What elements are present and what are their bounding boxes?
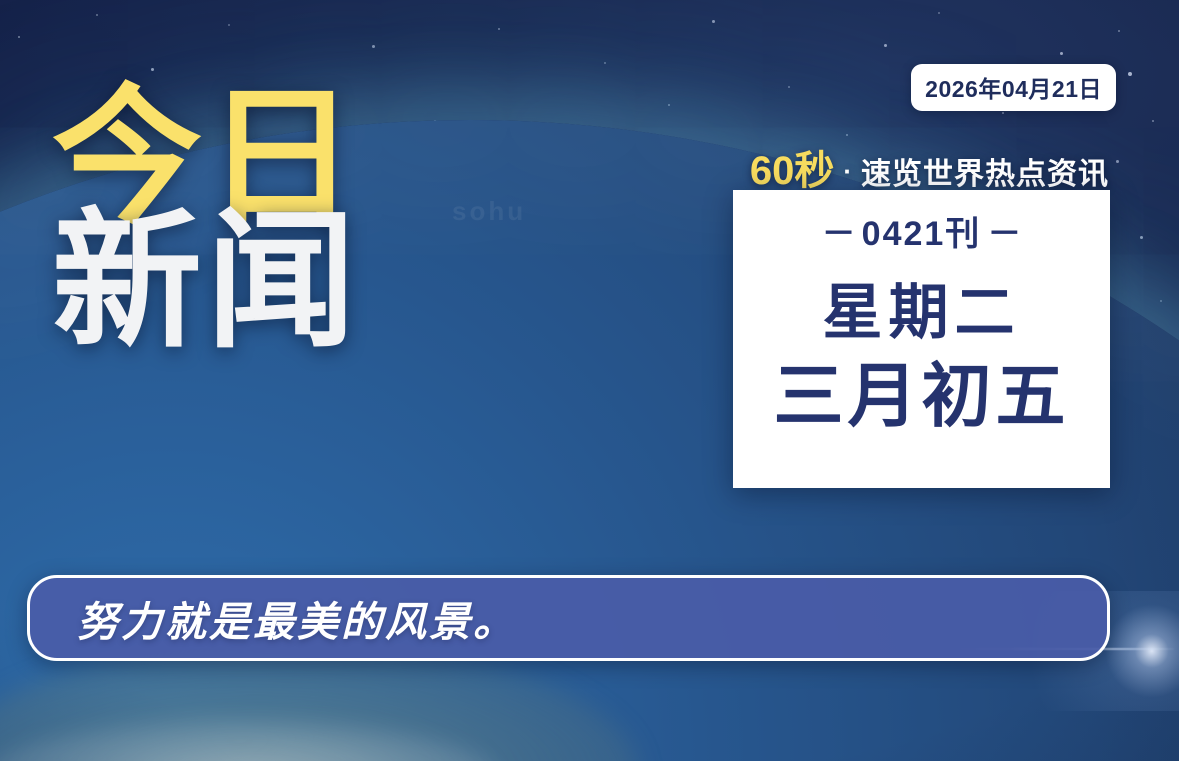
date-badge: 2026年04月21日 [911, 64, 1116, 111]
news-poster-canvas: sohu 今日 新闻 2026年04月21日 60秒 · 速览世界热点资讯 －0… [0, 0, 1179, 761]
quote-text: 努力就是最美的风景。 [77, 588, 517, 648]
poster-content: sohu 今日 新闻 2026年04月21日 60秒 · 速览世界热点资讯 －0… [0, 0, 1179, 761]
tagline-description: 速览世界热点资讯 [861, 149, 1109, 193]
masthead-line-news: 新闻 [52, 212, 360, 350]
tagline-separator-dot: · [843, 156, 852, 187]
weekday-label: 星期二 [823, 281, 1021, 344]
issue-dash-right: － [981, 215, 1027, 253]
tagline: 60秒 · 速览世界热点资讯 [750, 138, 1109, 196]
tagline-seconds: 60秒 [750, 138, 835, 196]
issue-dash-left: － [816, 215, 862, 253]
quote-banner: 努力就是最美的风景。 [27, 575, 1110, 661]
background-watermark: sohu [452, 196, 526, 227]
issue-number-row: －0421刊－ [816, 206, 1028, 255]
issue-info-card: －0421刊－ 星期二 三月初五 [733, 190, 1110, 488]
masthead-title: 今日 新闻 [52, 88, 360, 350]
lunar-date-label: 三月初五 [774, 360, 1070, 434]
issue-number: 0421刊 [862, 215, 982, 253]
